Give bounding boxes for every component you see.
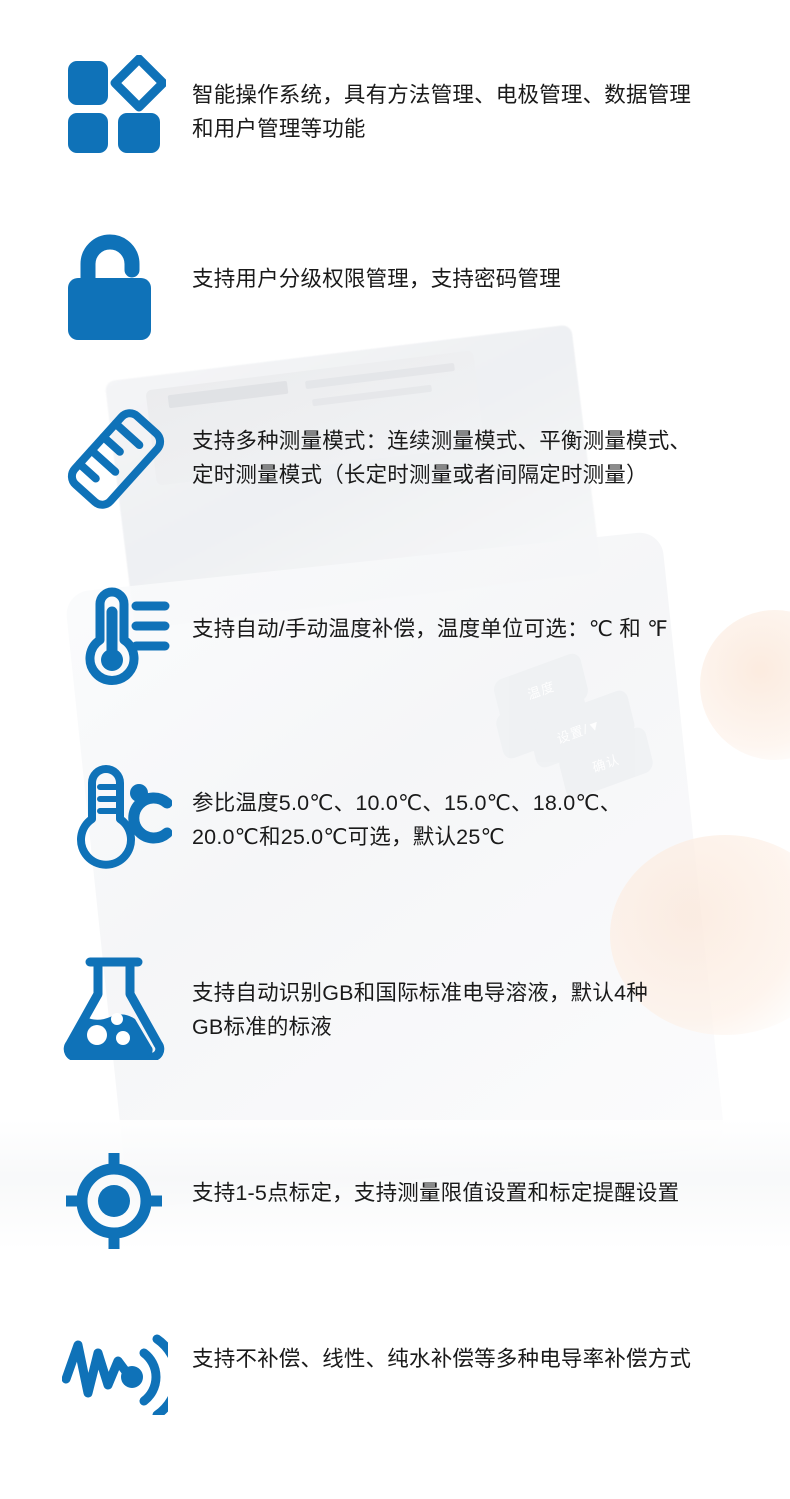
feature-text: 智能操作系统，具有方法管理、电极管理、数据管理 和用户管理等功能 [192,54,776,146]
flask-icon [62,946,192,1064]
feature-list-page: 温度 ▲ 取消 设置/▼ 确认 智能操作系统，具有方法管理、电极管理、数据管理 … [0,0,790,1499]
feature-item-smart-os: 智能操作系统，具有方法管理、电极管理、数据管理 和用户管理等功能 [0,54,790,226]
thermometer-celsius-icon [62,760,192,878]
thermometer-levels-icon [62,578,192,696]
feature-list: 智能操作系统，具有方法管理、电极管理、数据管理 和用户管理等功能 支持用户分级权… [0,0,790,1462]
feature-item-conductivity-compensation: 支持不补偿、线性、纯水补偿等多种电导率补偿方式 [0,1312,790,1462]
feature-text: 支持自动/手动温度补偿，温度单位可选：℃ 和 ℉ [192,574,776,646]
crosshair-target-icon [62,1142,192,1260]
grid-dashboard-icon [62,48,192,166]
feature-item-standard-solutions: 支持自动识别GB和国际标准电导溶液，默认4种 GB标准的标液 [0,944,790,1136]
feature-text: 支持自动识别GB和国际标准电导溶液，默认4种 GB标准的标液 [192,944,776,1044]
signal-waveform-icon [62,1312,192,1430]
ruler-icon [62,400,192,518]
feature-text: 支持用户分级权限管理，支持密码管理 [192,226,776,296]
feature-item-temp-compensation: 支持自动/手动温度补偿，温度单位可选：℃ 和 ℉ [0,574,790,764]
feature-item-measure-modes: 支持多种测量模式：连续测量模式、平衡测量模式、 定时测量模式（长定时测量或者间隔… [0,402,790,574]
unlocked-padlock-icon [62,230,192,348]
feature-text: 支持1-5点标定，支持测量限值设置和标定提醒设置 [192,1136,776,1210]
feature-item-calibration: 支持1-5点标定，支持测量限值设置和标定提醒设置 [0,1136,790,1312]
feature-text: 支持不补偿、线性、纯水补偿等多种电导率补偿方式 [192,1312,776,1376]
feature-item-reference-temp: 参比温度5.0℃、10.0℃、15.0℃、18.0℃、 20.0℃和25.0℃可… [0,764,790,944]
feature-text: 支持多种测量模式：连续测量模式、平衡测量模式、 定时测量模式（长定时测量或者间隔… [192,402,776,492]
feature-item-permissions: 支持用户分级权限管理，支持密码管理 [0,226,790,402]
feature-text: 参比温度5.0℃、10.0℃、15.0℃、18.0℃、 20.0℃和25.0℃可… [192,764,776,854]
